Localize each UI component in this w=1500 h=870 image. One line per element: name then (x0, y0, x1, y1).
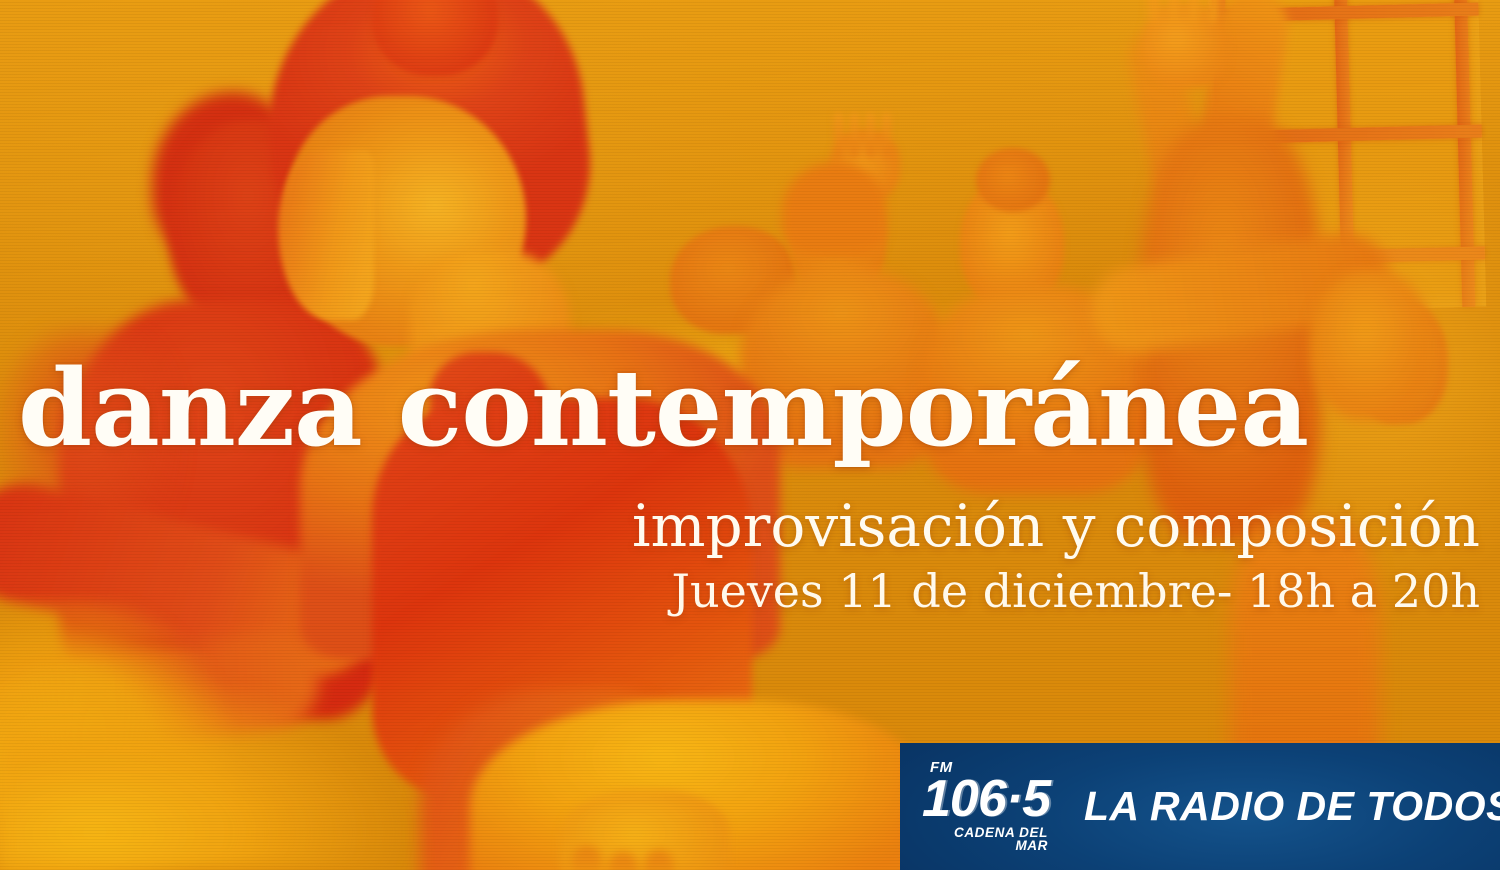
radio-logo-network-name: CADENA DEL MAR (922, 826, 1048, 853)
radio-tagline: LA RADIO DE TODOS (1084, 783, 1500, 830)
poster-dateline: Jueves 11 de diciembre- 18h a 20h (672, 568, 1480, 614)
poster-canvas: danza contemporánea improvisación y comp… (0, 0, 1500, 870)
radio-logo: FM 106·5 CADENA DEL MAR (922, 760, 1050, 853)
radio-station-banner: FM 106·5 CADENA DEL MAR LA RADIO DE TODO… (900, 743, 1500, 870)
poster-subtitle: improvisación y composición (632, 497, 1480, 555)
radio-logo-frequency: 106·5 (922, 776, 1050, 824)
page-title: danza contemporánea (18, 355, 1308, 461)
